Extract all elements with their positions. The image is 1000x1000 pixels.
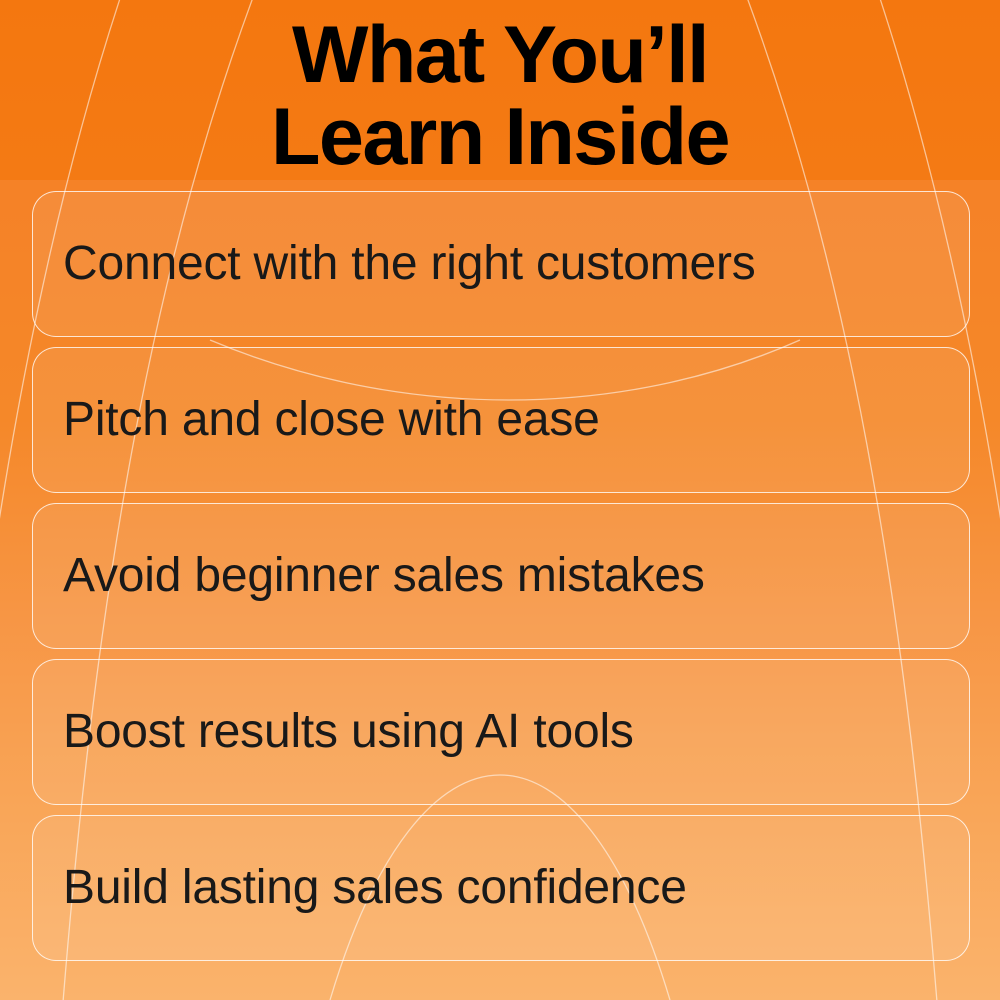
benefit-card-label: Avoid beginner sales mistakes (63, 551, 705, 601)
page-title-line-1: What You’ll (0, 14, 1000, 96)
benefit-card-label: Connect with the right customers (63, 239, 756, 289)
benefit-card-list: Connect with the right customers Pitch a… (0, 178, 1000, 1000)
poster-stack: What You’ll Learn Inside Connect with th… (0, 0, 1000, 1000)
page-title-line-2: Learn Inside (0, 96, 1000, 178)
page-title: What You’ll Learn Inside (0, 0, 1000, 178)
benefit-card-3[interactable]: Avoid beginner sales mistakes (32, 503, 970, 649)
benefit-card-1[interactable]: Connect with the right customers (32, 191, 970, 337)
benefit-card-2[interactable]: Pitch and close with ease (32, 347, 970, 493)
benefit-card-label: Build lasting sales confidence (63, 863, 687, 913)
benefit-card-4[interactable]: Boost results using AI tools (32, 659, 970, 805)
poster-canvas: What You’ll Learn Inside Connect with th… (0, 0, 1000, 1000)
benefit-card-label: Pitch and close with ease (63, 395, 600, 445)
benefit-card-label: Boost results using AI tools (63, 707, 634, 757)
benefit-card-5[interactable]: Build lasting sales confidence (32, 815, 970, 961)
